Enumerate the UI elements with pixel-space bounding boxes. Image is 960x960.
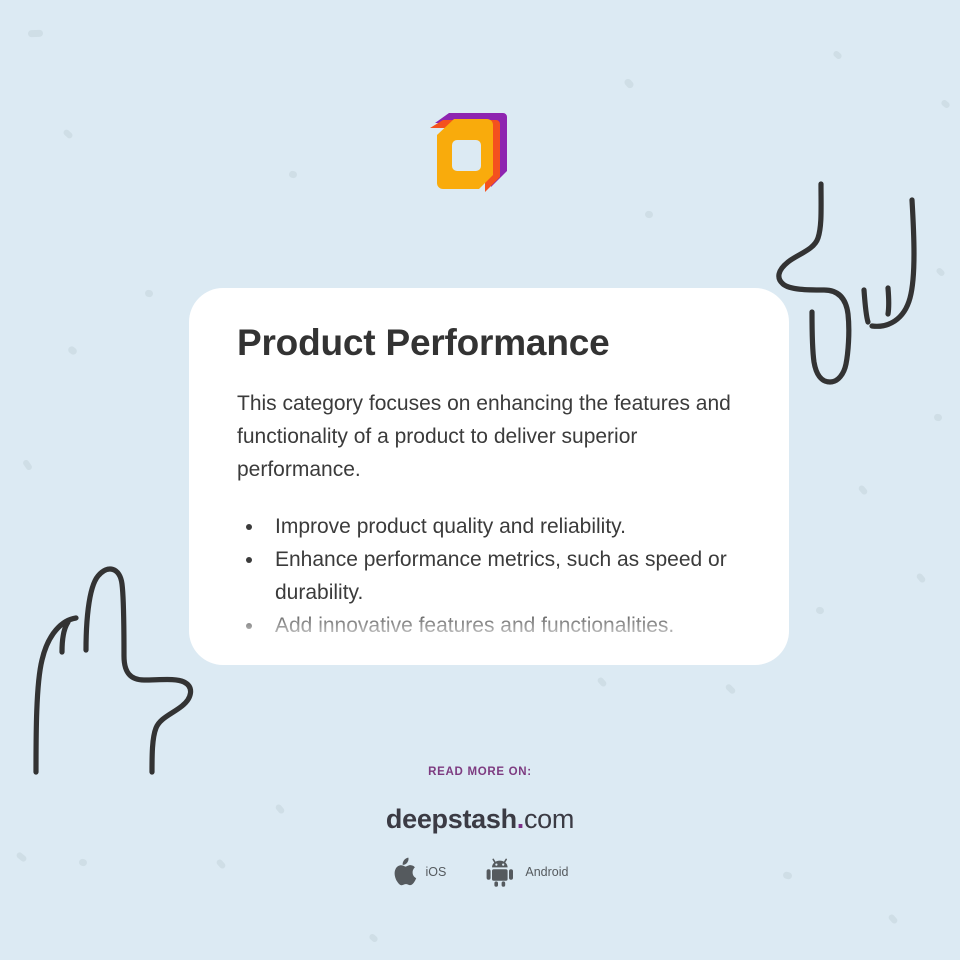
footer: READ MORE ON: deepstash.com iOS: [0, 766, 960, 887]
ios-store-badge[interactable]: iOS: [392, 857, 447, 887]
page-title: Product Performance: [237, 322, 741, 365]
wordmark-dot: .: [517, 804, 524, 834]
confetti-speck: [289, 170, 298, 178]
confetti-speck: [644, 210, 653, 219]
confetti-speck: [935, 267, 946, 278]
confetti-speck: [724, 683, 736, 695]
list-item: Add innovative features and functionalit…: [265, 609, 741, 642]
android-store-badge[interactable]: Android: [484, 857, 568, 887]
card-bullet-list: Improve product quality and reliability.…: [237, 510, 741, 642]
poster-canvas: Product Performance This category focuse…: [0, 0, 960, 960]
confetti-speck: [28, 30, 43, 38]
confetti-speck: [887, 913, 898, 924]
confetti-speck: [623, 77, 635, 89]
android-icon: [484, 857, 516, 887]
pointing-hand-illustration-up: [24, 560, 204, 780]
pointing-hand-illustration-down: [764, 178, 944, 393]
store-badges: iOS And: [0, 857, 960, 887]
confetti-speck: [368, 933, 379, 943]
confetti-speck: [832, 50, 843, 60]
store-label: iOS: [426, 865, 447, 879]
confetti-speck: [596, 676, 607, 687]
confetti-speck: [857, 484, 868, 496]
deepstash-logo: [429, 105, 517, 197]
confetti-speck: [144, 289, 153, 297]
list-item: Enhance performance metrics, such as spe…: [265, 543, 741, 609]
confetti-speck: [815, 606, 824, 615]
confetti-speck: [940, 99, 951, 109]
idea-card-content: Product Performance This category focuse…: [189, 288, 789, 642]
wordmark-name: deepstash: [386, 804, 517, 834]
wordmark-tld: com: [524, 804, 574, 834]
confetti-speck: [67, 345, 78, 356]
confetti-speck: [915, 572, 926, 584]
confetti-speck: [62, 128, 73, 139]
idea-card: Product Performance This category focuse…: [189, 288, 789, 665]
apple-icon: [392, 857, 417, 887]
confetti-speck: [933, 413, 942, 421]
read-more-label: READ MORE ON:: [0, 766, 960, 778]
confetti-speck: [22, 459, 33, 471]
list-item: Improve product quality and reliability.: [265, 510, 741, 543]
store-label: Android: [525, 865, 568, 879]
deepstash-wordmark[interactable]: deepstash.com: [0, 804, 960, 835]
card-description: This category focuses on enhancing the f…: [237, 387, 741, 486]
